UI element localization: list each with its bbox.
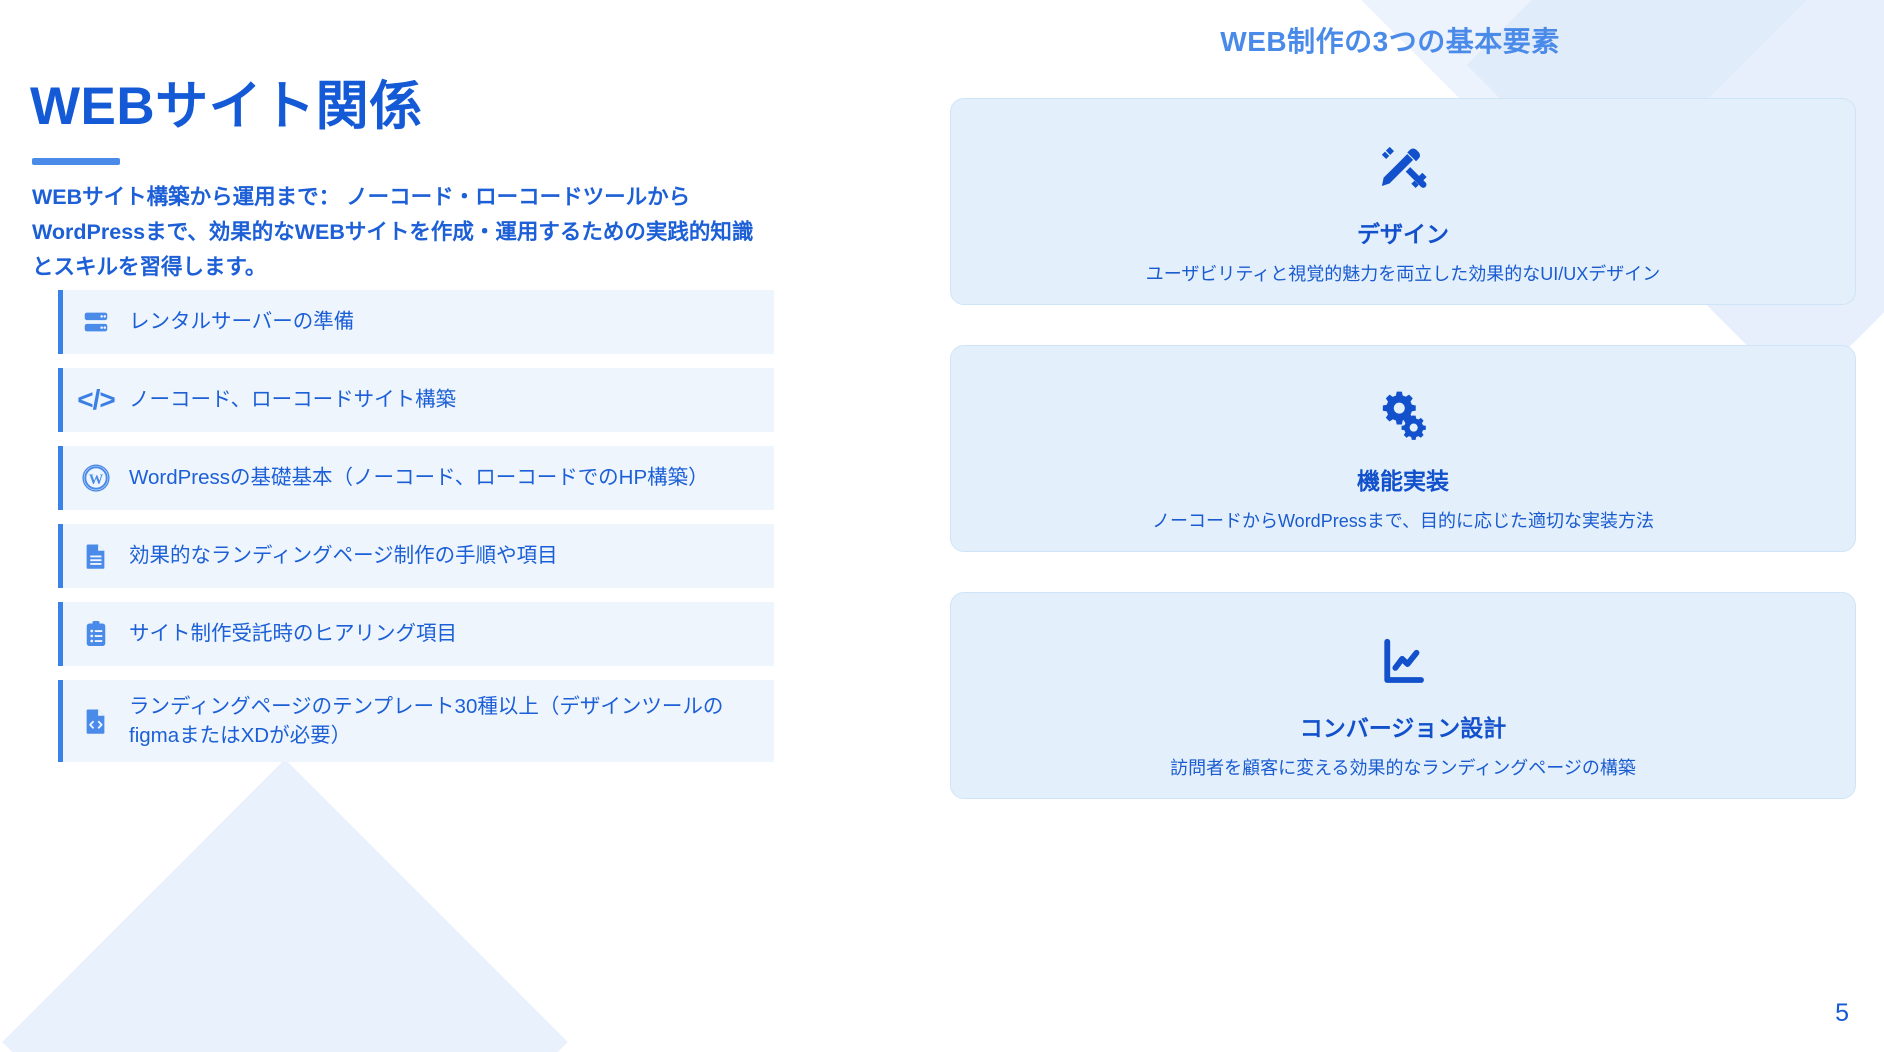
list-item[interactable]: 効果的なランディングページ制作の手順や項目 [58, 524, 774, 588]
list-item-label: サイト制作受託時のヒアリング項目 [129, 619, 457, 648]
left-column: WEBサイト関係 WEBサイト構築から運用まで： ノーコード・ローコードツールか… [30, 0, 950, 1052]
card-design[interactable]: デザイン ユーザビリティと視覚的魅力を両立した効果的なUI/UXデザイン [950, 98, 1856, 305]
list-item-label: 効果的なランディングページ制作の手順や項目 [129, 541, 558, 570]
list-item[interactable]: サイト制作受託時のヒアリング項目 [58, 602, 774, 666]
list-item-label: WordPressの基礎基本（ノーコード、ローコードでのHP構築） [129, 463, 709, 492]
file-code-icon [79, 704, 113, 738]
card-list: デザイン ユーザビリティと視覚的魅力を両立した効果的なUI/UXデザイン 機能実… [950, 98, 1856, 839]
server-icon [79, 305, 113, 339]
page-number: 5 [1835, 999, 1849, 1028]
list-item-label: ノーコード、ローコードサイト構築 [129, 385, 456, 414]
list-item[interactable]: </> ノーコード、ローコードサイト構築 [58, 368, 774, 432]
card-description: ユーザビリティと視覚的魅力を両立した効果的なUI/UXデザイン [975, 260, 1831, 286]
page-title: WEBサイト関係 [30, 78, 423, 136]
list-item[interactable]: W WordPressの基礎基本（ノーコード、ローコードでのHP構築） [58, 446, 774, 510]
slide-canvas: WEBサイト関係 WEBサイト構築から運用まで： ノーコード・ローコードツールか… [0, 0, 1884, 1052]
clipboard-list-icon [79, 617, 113, 651]
document-icon [79, 539, 113, 573]
list-item[interactable]: レンタルサーバーの準備 [58, 290, 774, 354]
svg-text:W: W [89, 472, 104, 488]
code-brackets-icon: </> [79, 383, 113, 417]
wordpress-icon: W [79, 461, 113, 495]
gears-icon [975, 382, 1831, 448]
list-item-label: レンタルサーバーの準備 [129, 307, 354, 336]
card-title: デザイン [975, 215, 1831, 249]
section-title: WEB制作の3つの基本要素 [950, 20, 1830, 60]
card-conversion[interactable]: コンバージョン設計 訪問者を顧客に変える効果的なランディングページの構築 [950, 592, 1856, 799]
pencil-ruler-icon [975, 135, 1831, 201]
right-column: WEB制作の3つの基本要素 デザイン ユーザビリティと視覚的魅力を両立した効果 [950, 0, 1884, 1052]
card-description: 訪問者を顧客に変える効果的なランディングページの構築 [975, 754, 1831, 780]
card-title: コンバージョン設計 [975, 709, 1831, 743]
lead-paragraph: WEBサイト構築から運用まで： ノーコード・ローコードツールからWordPres… [32, 180, 760, 284]
card-implementation[interactable]: 機能実装 ノーコードからWordPressまで、目的に応じた適切な実装方法 [950, 345, 1856, 552]
card-title: 機能実装 [975, 462, 1831, 496]
list-item-label: ランディングページのテンプレート30種以上（デザインツールのfigmaまたはXD… [129, 692, 756, 750]
line-chart-icon [975, 629, 1831, 695]
card-description: ノーコードからWordPressまで、目的に応じた適切な実装方法 [975, 507, 1831, 533]
feature-list: レンタルサーバーの準備 </> ノーコード、ローコードサイト構築 W WordP… [58, 290, 774, 776]
list-item[interactable]: ランディングページのテンプレート30種以上（デザインツールのfigmaまたはXD… [58, 680, 774, 762]
title-underline-rule [32, 158, 120, 165]
